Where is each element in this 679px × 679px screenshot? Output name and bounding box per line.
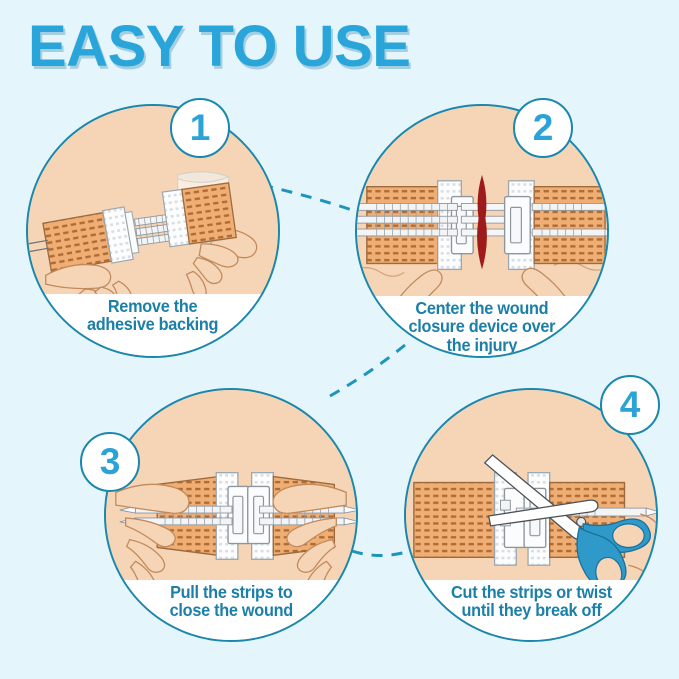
step-2-badge: 2 [513,98,573,158]
step-4-number: 4 [620,386,641,423]
step-3-circle[interactable]: Pull the strips to close the wound [104,388,358,642]
step-1-number: 1 [190,109,211,146]
instructions-poster: EASY TO USE [0,0,679,679]
step-1-caption-band: Remove the adhesive backing [28,294,278,356]
connector-step3-to-step4 [352,551,410,556]
step-4-caption-band: Cut the strips or twist until they break… [406,580,656,640]
step-1-circle[interactable]: Remove the adhesive backing [26,104,280,358]
step-3-number: 3 [100,443,121,480]
step-3-badge: 3 [80,432,140,492]
step-4-badge: 4 [600,375,660,435]
step-4-caption: Cut the strips or twist until they break… [451,583,612,620]
page-title: EASY TO USE [28,18,410,76]
step-3-caption-band: Pull the strips to close the wound [106,580,356,640]
step-2-number: 2 [533,109,554,146]
step-3-caption: Pull the strips to close the wound [169,583,292,620]
step-1-badge: 1 [170,98,230,158]
step-1-caption: Remove the adhesive backing [87,297,218,334]
step-2-circle[interactable]: Center the wound closure device over the… [355,104,609,358]
step-2-caption-band: Center the wound closure device over the… [357,296,607,356]
step-2-caption: Center the wound closure device over the… [409,299,556,354]
